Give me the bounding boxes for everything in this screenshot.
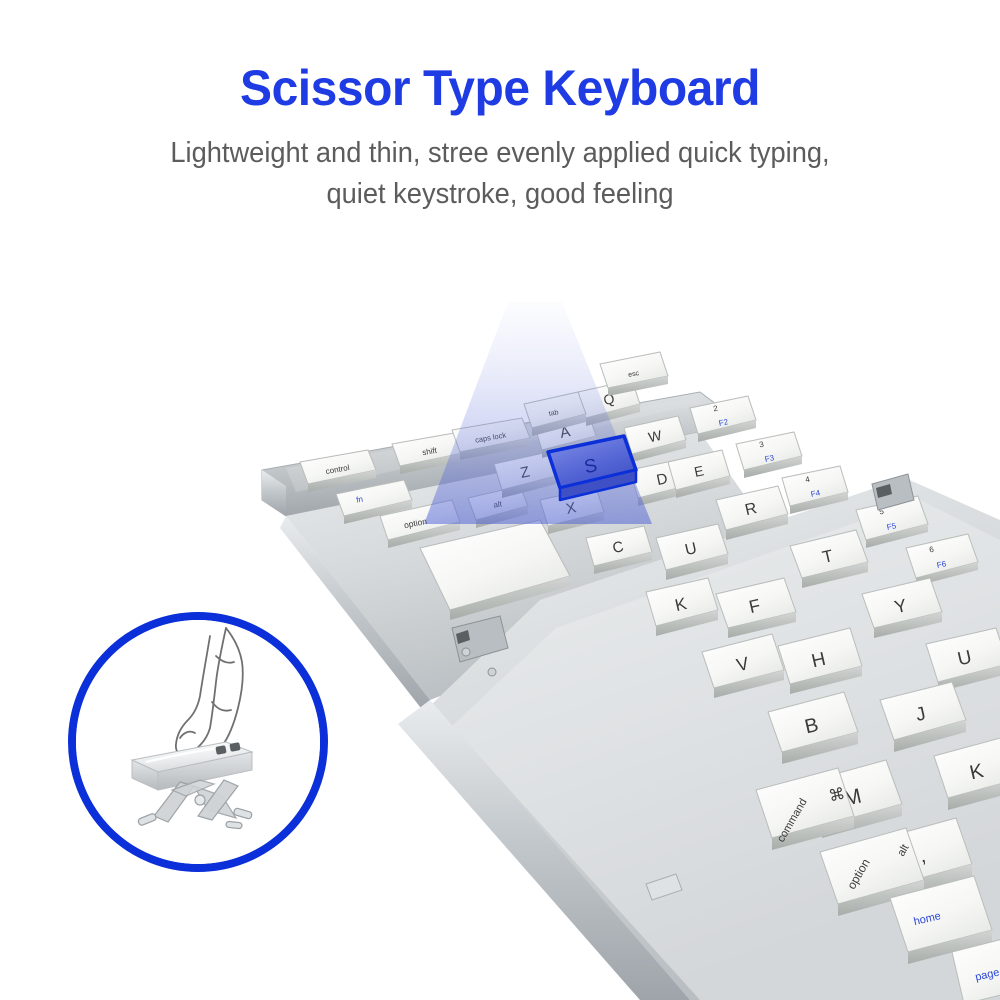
scissor-mechanism-inset <box>68 612 328 872</box>
product-marketing-image: Scissor Type Keyboard Lightweight and th… <box>0 0 1000 1000</box>
key-3[interactable]: 3 F3 <box>736 432 802 478</box>
key-esc[interactable]: esc <box>600 352 668 396</box>
